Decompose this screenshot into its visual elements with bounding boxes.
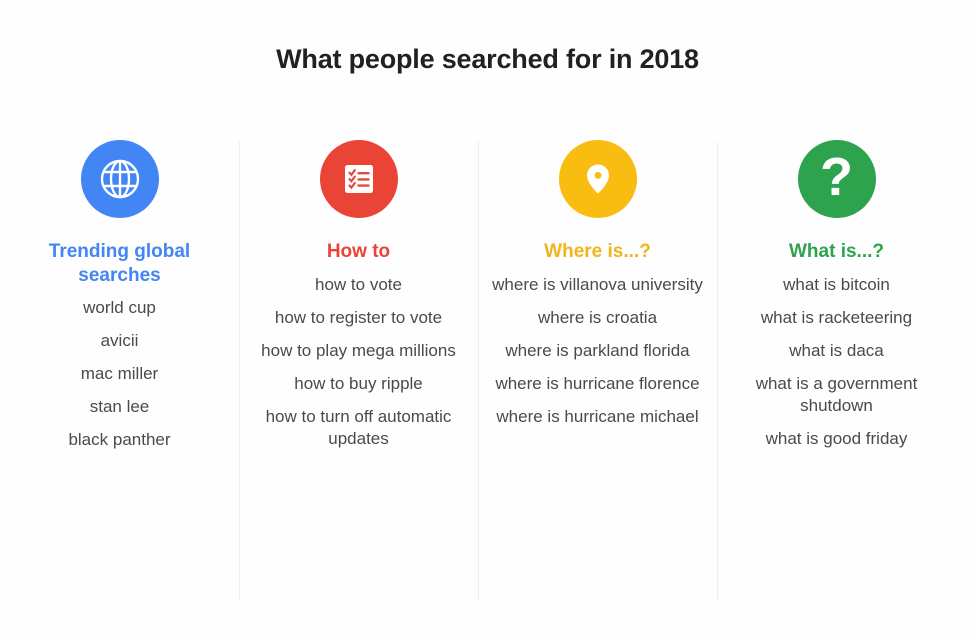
search-term-item: mac miller <box>14 363 225 385</box>
search-term-item: how to buy ripple <box>253 373 464 395</box>
category-title: Trending global searches <box>14 240 225 287</box>
search-term-item: how to vote <box>253 274 464 296</box>
category-columns: Trending global searches world cup avici… <box>0 140 975 463</box>
search-term-item: where is hurricane michael <box>492 406 703 428</box>
map-pin-icon <box>576 157 620 201</box>
checklist-icon <box>337 157 381 201</box>
search-term-item: world cup <box>14 297 225 319</box>
search-term-item: avicii <box>14 330 225 352</box>
category-title: What is...? <box>789 240 884 264</box>
search-term-item: what is a government shutdown <box>731 373 942 417</box>
page-title: What people searched for in 2018 <box>0 44 975 75</box>
search-term-item: what is daca <box>731 340 942 362</box>
search-term-item: where is parkland florida <box>492 340 703 362</box>
category-title: Where is...? <box>544 240 651 264</box>
search-term-list: how to vote how to register to vote how … <box>253 274 464 462</box>
globe-icon-badge <box>81 140 159 218</box>
search-term-item: stan lee <box>14 396 225 418</box>
checklist-icon-badge <box>320 140 398 218</box>
search-term-item: where is croatia <box>492 307 703 329</box>
category-column-trending-global-searches: Trending global searches world cup avici… <box>0 140 239 463</box>
category-title: How to <box>327 240 390 264</box>
globe-icon <box>96 155 144 203</box>
category-column-what-is: ? What is...? what is bitcoin what is ra… <box>717 140 956 461</box>
search-term-item: what is good friday <box>731 428 942 450</box>
search-term-item: how to register to vote <box>253 307 464 329</box>
search-term-item: black panther <box>14 429 225 451</box>
search-term-item: how to play mega millions <box>253 340 464 362</box>
search-term-list: where is villanova university where is c… <box>492 274 703 439</box>
map-pin-icon-badge <box>559 140 637 218</box>
search-term-item: how to turn off automatic updates <box>253 406 464 450</box>
search-term-item: what is bitcoin <box>731 274 942 296</box>
category-column-how-to: How to how to vote how to register to vo… <box>239 140 478 461</box>
search-term-item: what is racketeering <box>731 307 942 329</box>
search-term-list: what is bitcoin what is racketeering wha… <box>731 274 942 462</box>
question-mark-icon: ? <box>820 150 853 204</box>
search-term-item: where is hurricane florence <box>492 373 703 395</box>
infographic-page: What people searched for in 2018 <box>0 0 975 638</box>
category-column-where-is: Where is...? where is villanova universi… <box>478 140 717 439</box>
question-mark-icon-badge: ? <box>798 140 876 218</box>
search-term-list: world cup avicii mac miller stan lee bla… <box>14 297 225 462</box>
search-term-item: where is villanova university <box>492 274 703 296</box>
